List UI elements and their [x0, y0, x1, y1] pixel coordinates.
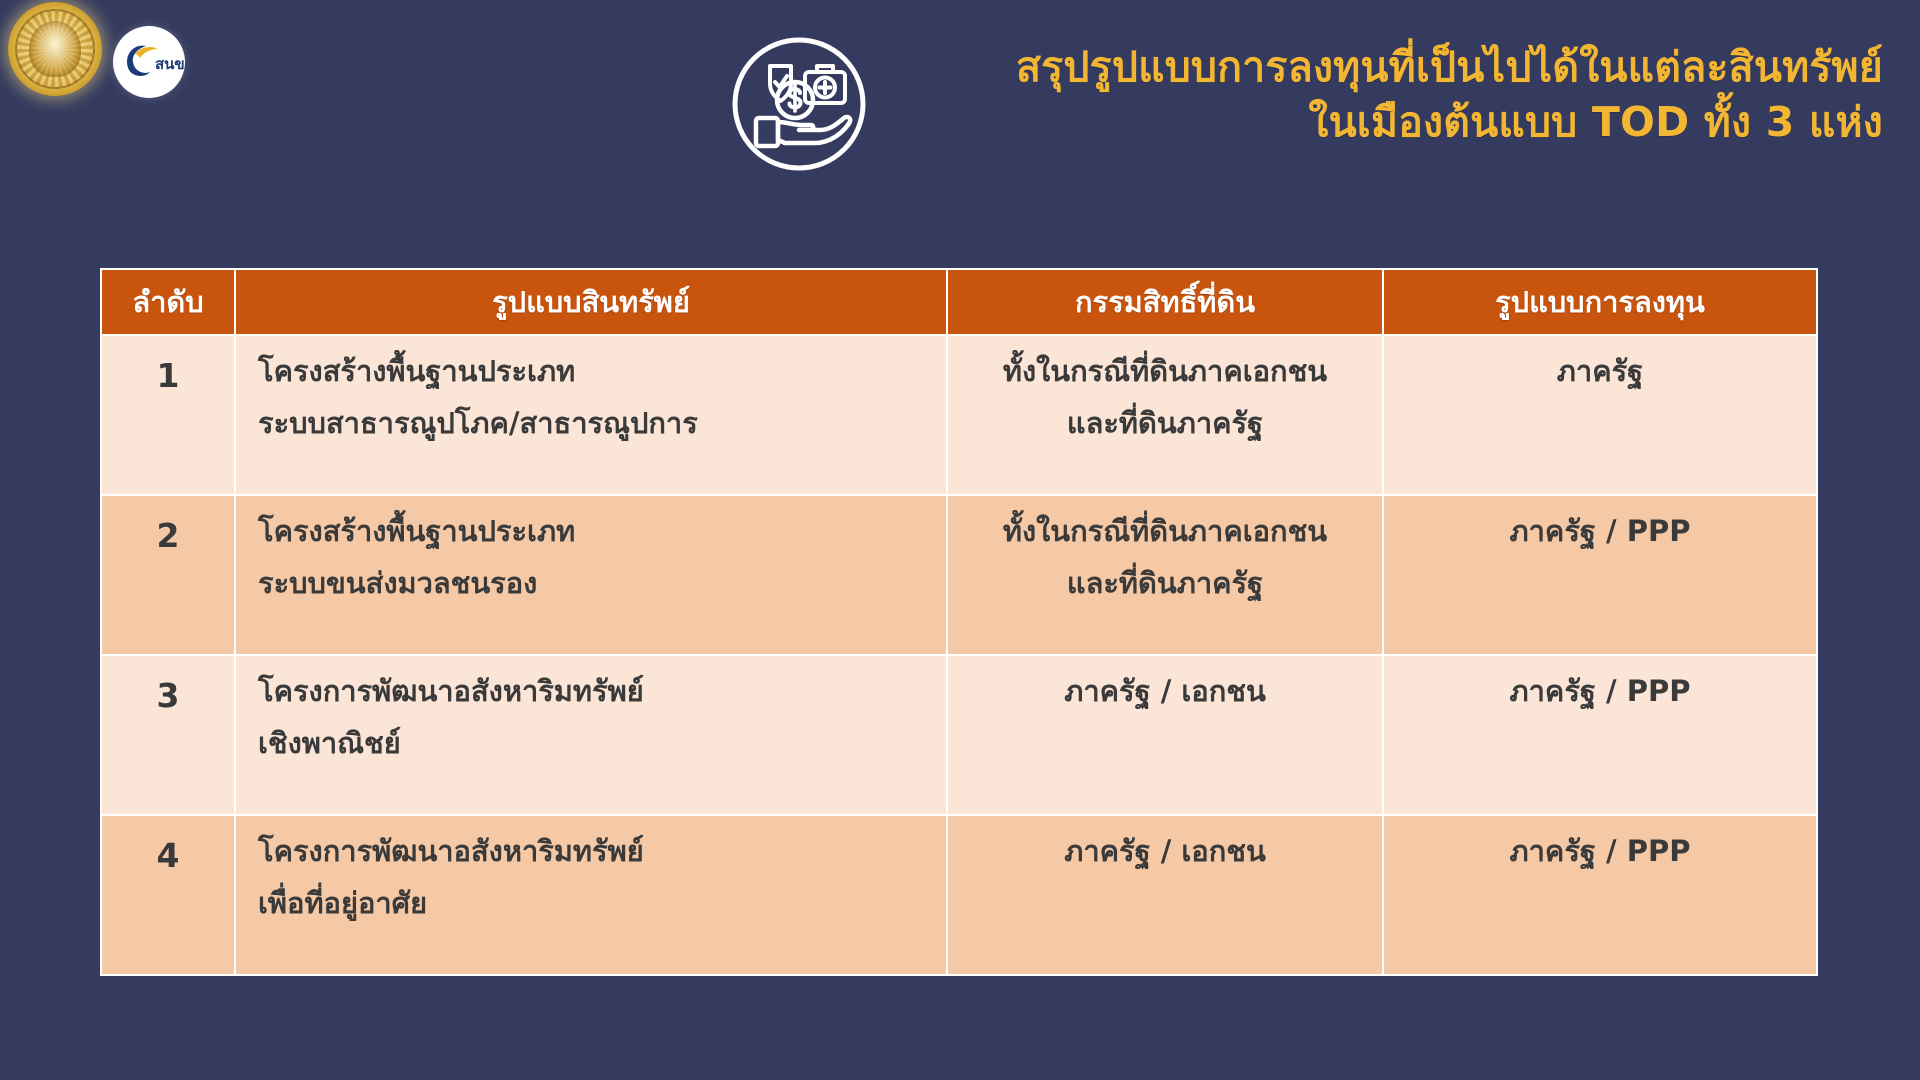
cell-land-ownership: ทั้งในกรณีที่ดินภาคเอกชน และที่ดินภาครัฐ [947, 335, 1383, 495]
column-header-asset: รูปแบบสินทรัพย์ [235, 270, 947, 335]
cell-inv-line1: ภาครัฐ / PPP [1394, 670, 1806, 712]
cell-row-number: 4 [102, 815, 235, 974]
table-row: 4 โครงการพัฒนาอสังหาริมทรัพย์ เพื่อที่อย… [102, 815, 1816, 974]
cell-asset-line1: โครงการพัฒนาอสังหาริมทรัพย์ [258, 670, 936, 712]
cell-row-number: 1 [102, 335, 235, 495]
cell-investment-model: ภาครัฐ / PPP [1383, 495, 1816, 655]
cell-asset-line2: เชิงพาณิชย์ [258, 722, 936, 764]
cell-asset-line2: เพื่อที่อยู่อาศัย [258, 882, 936, 924]
cell-investment-model: ภาครัฐ [1383, 335, 1816, 495]
cell-inv-line1: ภาครัฐ [1394, 350, 1806, 392]
cell-asset-line2: ระบบขนส่งมวลชนรอง [258, 562, 936, 604]
cell-land-line2: และที่ดินภาครัฐ [958, 562, 1372, 604]
title-block: สรุปรูปแบบการลงทุนที่เป็นไปได้ในแต่ละสิน… [725, 26, 1895, 186]
column-header-land: กรรมสิทธิ์ที่ดิน [947, 270, 1383, 335]
cell-asset-type: โครงสร้างพื้นฐานประเภท ระบบสาธารณูปโภค/ส… [235, 335, 947, 495]
table-header: ลำดับ รูปแบบสินทรัพย์ กรรมสิทธิ์ที่ดิน ร… [102, 270, 1816, 335]
cell-investment-model: ภาครัฐ / PPP [1383, 655, 1816, 815]
table-header-row: ลำดับ รูปแบบสินทรัพย์ กรรมสิทธิ์ที่ดิน ร… [102, 270, 1816, 335]
logo-bar: สนข [0, 0, 260, 120]
cell-land-line1: ทั้งในกรณีที่ดินภาคเอกชน [958, 350, 1372, 392]
cell-asset-line2: ระบบสาธารณูปโภค/สาธารณูปการ [258, 402, 936, 444]
table-body: 1 โครงสร้างพื้นฐานประเภท ระบบสาธารณูปโภค… [102, 335, 1816, 974]
cell-asset-line1: โครงสร้างพื้นฐานประเภท [258, 350, 936, 392]
svg-text:สนข: สนข [155, 55, 185, 73]
table-row: 1 โครงสร้างพื้นฐานประเภท ระบบสาธารณูปโภค… [102, 335, 1816, 495]
cell-land-line1: ภาครัฐ / เอกชน [958, 670, 1372, 712]
royal-thai-government-seal-logo [8, 2, 102, 96]
table-row: 3 โครงการพัฒนาอสังหาริมทรัพย์ เชิงพาณิชย… [102, 655, 1816, 815]
cell-land-ownership: ภาครัฐ / เอกชน [947, 655, 1383, 815]
cell-investment-model: ภาครัฐ / PPP [1383, 815, 1816, 974]
investment-summary-table-wrapper: ลำดับ รูปแบบสินทรัพย์ กรรมสิทธิ์ที่ดิน ร… [100, 268, 1818, 976]
cell-land-line2: และที่ดินภาครัฐ [958, 402, 1372, 444]
title-text-group: สรุปรูปแบบการลงทุนที่เป็นไปได้ในแต่ละสิน… [873, 26, 1895, 149]
page-title-line2: ในเมืองต้นแบบ TOD ทั้ง 3 แห่ง [873, 95, 1883, 150]
cell-inv-line1: ภาครัฐ / PPP [1394, 830, 1806, 872]
otp-sno-logo: สนข [113, 26, 185, 98]
cell-land-ownership: ภาครัฐ / เอกชน [947, 815, 1383, 974]
cell-asset-line1: โครงการพัฒนาอสังหาริมทรัพย์ [258, 830, 936, 872]
cell-land-line1: ทั้งในกรณีที่ดินภาคเอกชน [958, 510, 1372, 552]
slide-canvas: สนข [0, 0, 1920, 1080]
cell-land-ownership: ทั้งในกรณีที่ดินภาคเอกชน และที่ดินภาครัฐ [947, 495, 1383, 655]
column-header-inv: รูปแบบการลงทุน [1383, 270, 1816, 335]
cell-row-number: 3 [102, 655, 235, 815]
table-row: 2 โครงสร้างพื้นฐานประเภท ระบบขนส่งมวลชนร… [102, 495, 1816, 655]
seal-emblem-core [29, 21, 82, 77]
column-header-no: ลำดับ [102, 270, 235, 335]
cell-land-line1: ภาครัฐ / เอกชน [958, 830, 1372, 872]
cell-asset-type: โครงการพัฒนาอสังหาริมทรัพย์ เพื่อที่อยู่… [235, 815, 947, 974]
investment-summary-table: ลำดับ รูปแบบสินทรัพย์ กรรมสิทธิ์ที่ดิน ร… [102, 270, 1816, 974]
hand-holding-money-shield-briefcase-icon [725, 30, 873, 178]
page-title-line1: สรุปรูปแบบการลงทุนที่เป็นไปได้ในแต่ละสิน… [873, 40, 1883, 95]
cell-asset-type: โครงการพัฒนาอสังหาริมทรัพย์ เชิงพาณิชย์ [235, 655, 947, 815]
cell-asset-line1: โครงสร้างพื้นฐานประเภท [258, 510, 936, 552]
cell-row-number: 2 [102, 495, 235, 655]
cell-asset-type: โครงสร้างพื้นฐานประเภท ระบบขนส่งมวลชนรอง [235, 495, 947, 655]
cell-inv-line1: ภาครัฐ / PPP [1394, 510, 1806, 552]
